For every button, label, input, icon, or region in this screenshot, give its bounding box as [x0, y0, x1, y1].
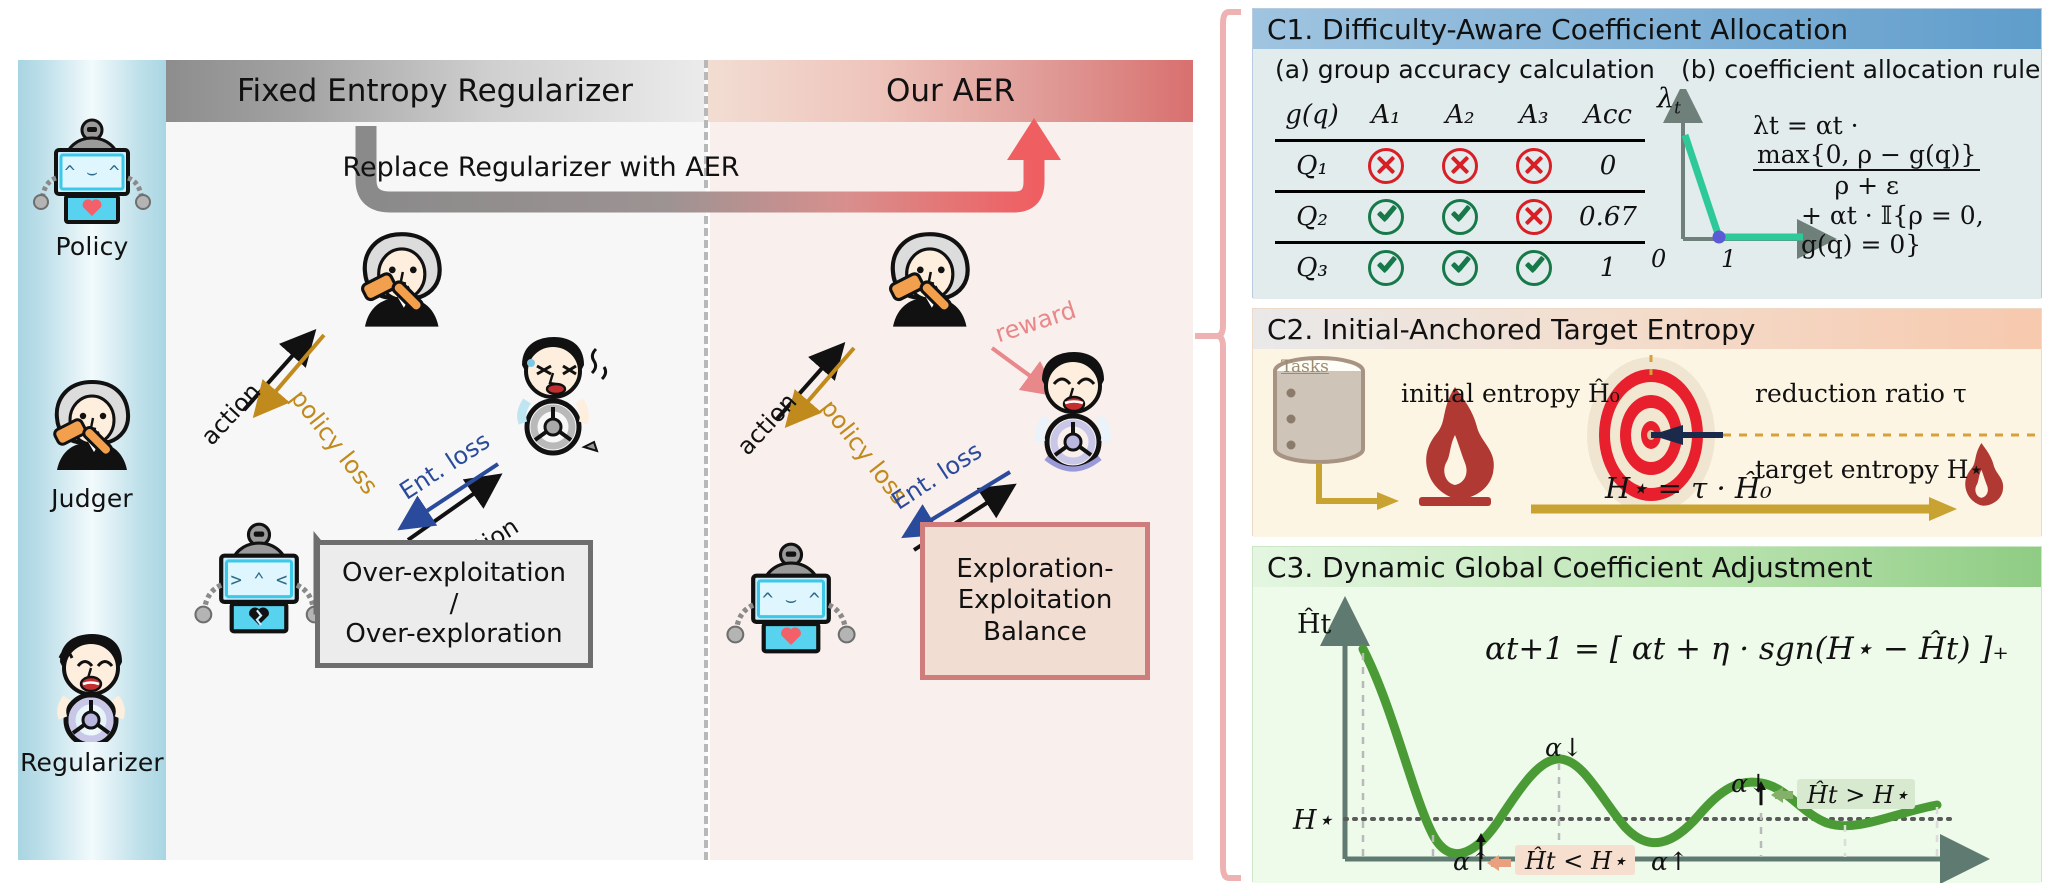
legend-item-policy: ^ ⌣ ^ Policy: [18, 116, 166, 261]
cell-acc: 1: [1571, 243, 1645, 293]
cross-icon: [1368, 148, 1404, 184]
cell-mark: [1349, 192, 1423, 243]
legend-rail: ^ ⌣ ^ Policy: [18, 60, 166, 860]
panel-c3-title: C3. Dynamic Global Coefficient Adjustmen…: [1253, 547, 2041, 587]
check-icon: [1442, 250, 1478, 286]
driver-steering-wheel-icon: [34, 632, 150, 742]
svg-text:> ⌃ <: > ⌃ <: [231, 569, 288, 591]
svg-text:^ ⌣ ^: ^ ⌣ ^: [762, 589, 820, 611]
col-header-a1: A₁: [1349, 91, 1423, 141]
cross-icon: [1442, 148, 1478, 184]
annotation-above-target: Ĥt > H⋆: [1807, 781, 1909, 809]
check-icon: [1442, 199, 1478, 235]
bracket-connector: [1185, 0, 1255, 890]
header-fixed-entropy-regularizer: Fixed Entropy Regularizer: [166, 60, 704, 122]
panel-c2: C2. Initial-Anchored Target Entropy: [1252, 308, 2042, 536]
cell-mark: [1423, 243, 1497, 293]
legend-item-judger: Judger: [18, 378, 166, 513]
annotation-below-target: Ĥt < H⋆: [1525, 847, 1627, 875]
cell-mark: [1497, 192, 1571, 243]
check-icon: [1368, 250, 1404, 286]
table-row: Q₁ 0: [1275, 141, 1645, 192]
cell-mark: [1423, 192, 1497, 243]
panel-c3-body: Ĥt H⋆ αt+1 = [ αt + η · sgn(H⋆ − Ĥt) ]₊ …: [1253, 587, 2041, 883]
annotation-alpha-up-1: α↑: [1453, 847, 1491, 876]
check-icon: [1516, 250, 1552, 286]
group-accuracy-table: g(q) A₁ A₂ A₃ Acc Q₁ 0: [1275, 91, 1645, 292]
figure-root: ^ ⌣ ^ Policy: [0, 0, 2050, 890]
lambda-formula-lhs: λt = αt ·: [1753, 111, 1859, 140]
annotation-alpha-down-2: α↓: [1731, 769, 1769, 798]
lambda-formula: λt = αt · max{0, ρ − g(q)} ρ + ε: [1753, 111, 2041, 200]
col-header-a3: A₃: [1497, 91, 1571, 141]
callout-left-line1: Over-exploitation: [342, 558, 566, 589]
cross-icon: [1516, 199, 1552, 235]
plot-xtick-1: 1: [1721, 245, 1736, 273]
panel-c1-title: C1. Difficulty-Aware Coefficient Allocat…: [1253, 9, 2041, 49]
cell-mark: [1349, 243, 1423, 293]
lambda-formula-line2: + αt · 𝕀{ρ = 0, g(q) = 0}: [1801, 201, 2041, 259]
callout-exploration-balance: Exploration- Exploitation Balance: [920, 522, 1150, 680]
cell-acc: 0: [1571, 141, 1645, 192]
panel-c1-subcaption-a: (a) group accuracy calculation: [1275, 55, 1655, 84]
panel-c2-title: C2. Initial-Anchored Target Entropy: [1253, 309, 2041, 349]
lambda-formula-numerator: max{0, ρ − g(q)}: [1753, 140, 1980, 171]
callout-right-line1: Exploration-: [956, 554, 1113, 585]
c3-ylabel: Ĥt: [1297, 609, 1331, 640]
panel-c1: C1. Difficulty-Aware Coefficient Allocat…: [1252, 8, 2042, 298]
panel-c3: C3. Dynamic Global Coefficient Adjustmen…: [1252, 546, 2042, 882]
initial-entropy-label: initial entropy Ĥ₀: [1401, 379, 1620, 408]
panel-c1-body: (a) group accuracy calculation (b) coeff…: [1253, 49, 2041, 299]
judge-gavel-icon: [37, 378, 147, 478]
robot-happy-icon: ^ ⌣ ^: [32, 116, 152, 226]
table-row: Q₃ 1: [1275, 243, 1645, 293]
callout-right-line3: Balance: [983, 617, 1087, 648]
header-right-label: Our AER: [708, 60, 1193, 122]
svg-text:^ ⌣ ^: ^ ⌣ ^: [64, 162, 119, 183]
callout-over-exploitation: Over-exploitation / Over-exploration: [315, 540, 593, 668]
cross-icon: [1516, 148, 1552, 184]
c2-equation: H⋆ = τ · Ĥ₀: [1605, 471, 1772, 505]
col-header-a2: A₂: [1423, 91, 1497, 141]
left-flow-graphics: > ⌃ <: [166, 120, 706, 860]
c3-threshold-label: H⋆: [1293, 805, 1333, 836]
c3-equation: αt+1 = [ αt + η · sgn(H⋆ − Ĥt) ]₊: [1485, 631, 2009, 667]
check-icon: [1368, 199, 1404, 235]
left-diagram-panel: ^ ⌣ ^ Policy: [18, 60, 1193, 860]
legend-item-regularizer: Regularizer: [18, 632, 166, 777]
replace-arrow-label: Replace Regularizer with AER: [306, 152, 776, 183]
legend-label-judger: Judger: [18, 484, 166, 513]
c2-graphics: [1253, 349, 2043, 537]
cell-acc: 0.67: [1571, 192, 1645, 243]
cell-q: Q₁: [1275, 141, 1349, 192]
database-label: Tasks: [1281, 357, 1329, 377]
cell-mark: [1349, 141, 1423, 192]
cell-mark: [1497, 243, 1571, 293]
callout-left-line2: /: [450, 589, 459, 620]
cell-q: Q₂: [1275, 192, 1349, 243]
right-flow-graphics: ^ ⌣ ^: [710, 120, 1193, 860]
legend-label-regularizer: Regularizer: [18, 748, 166, 777]
panel-c1-subcaption-b: (b) coefficient allocation rule: [1681, 55, 2040, 84]
callout-left-line3: Over-exploration: [345, 619, 562, 650]
lambda-formula-fraction: max{0, ρ − g(q)} ρ + ε: [1753, 140, 1980, 200]
header-left-label: Fixed Entropy Regularizer: [166, 60, 704, 122]
cell-mark: [1423, 141, 1497, 192]
col-header-gq: g(q): [1275, 91, 1349, 141]
lambda-formula-denominator: ρ + ε: [1753, 171, 1980, 200]
col-header-acc: Acc: [1571, 91, 1645, 141]
lambda-symbol: λ: [1657, 83, 1674, 114]
annotation-alpha-up-2: α↑: [1651, 847, 1689, 876]
panel-c2-body: Tasks initial entropy Ĥ₀ reduction ratio…: [1253, 349, 2041, 537]
cell-mark: [1497, 141, 1571, 192]
reduction-ratio-label: reduction ratio τ: [1755, 379, 1967, 408]
header-our-aer: Our AER: [708, 60, 1193, 122]
plot-ylabel-lambda: λt: [1657, 83, 1681, 117]
cell-q: Q₃: [1275, 243, 1349, 293]
legend-label-policy: Policy: [18, 232, 166, 261]
table-row: Q₂ 0.67: [1275, 192, 1645, 243]
annotation-alpha-down-1: α↓: [1545, 733, 1583, 762]
callout-right-line2: Exploitation: [958, 585, 1113, 616]
plot-xtick-0: 0: [1651, 245, 1666, 273]
target-entropy-label: target entropy H⋆: [1755, 455, 1984, 484]
